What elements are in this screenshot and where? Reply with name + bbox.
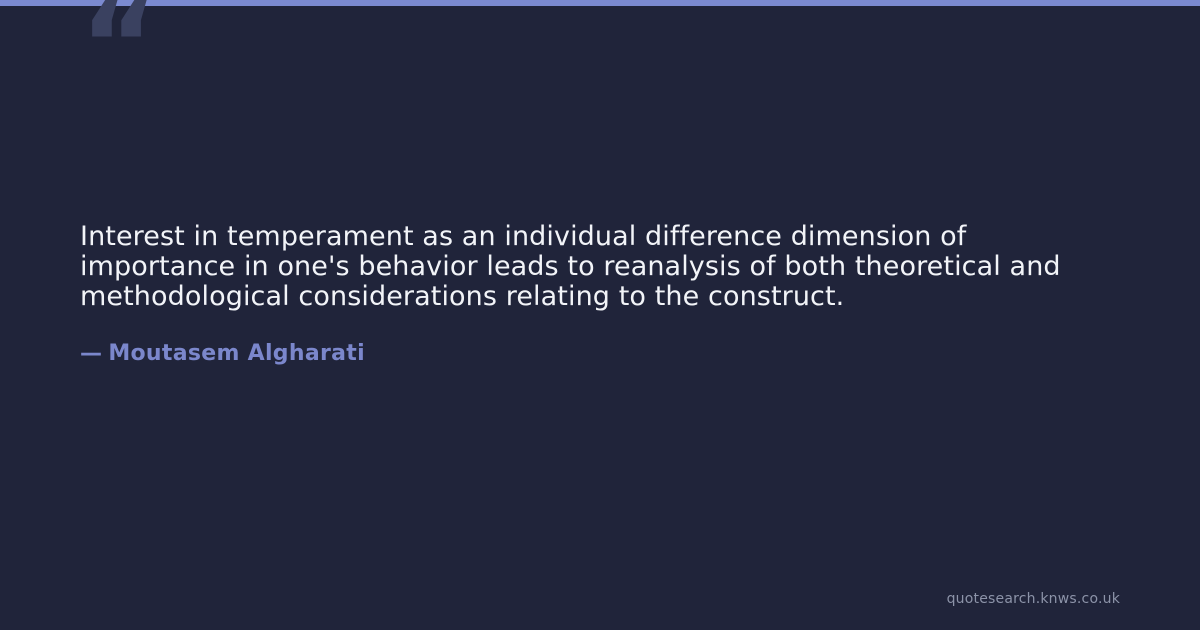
quote-text: Interest in temperament as an individual… [80, 222, 1115, 312]
quote-card: “ Interest in temperament as an individu… [0, 0, 1200, 630]
author-dash: — [80, 340, 102, 368]
top-accent-bar [0, 0, 1200, 6]
source-watermark: quotesearch.knws.co.uk [947, 590, 1120, 608]
open-quote-icon: “ [80, 0, 156, 104]
quote-author: —Moutasem Algharati [80, 312, 1120, 368]
quote-content: Interest in temperament as an individual… [80, 222, 1120, 368]
author-name: Moutasem Algharati [108, 341, 365, 366]
